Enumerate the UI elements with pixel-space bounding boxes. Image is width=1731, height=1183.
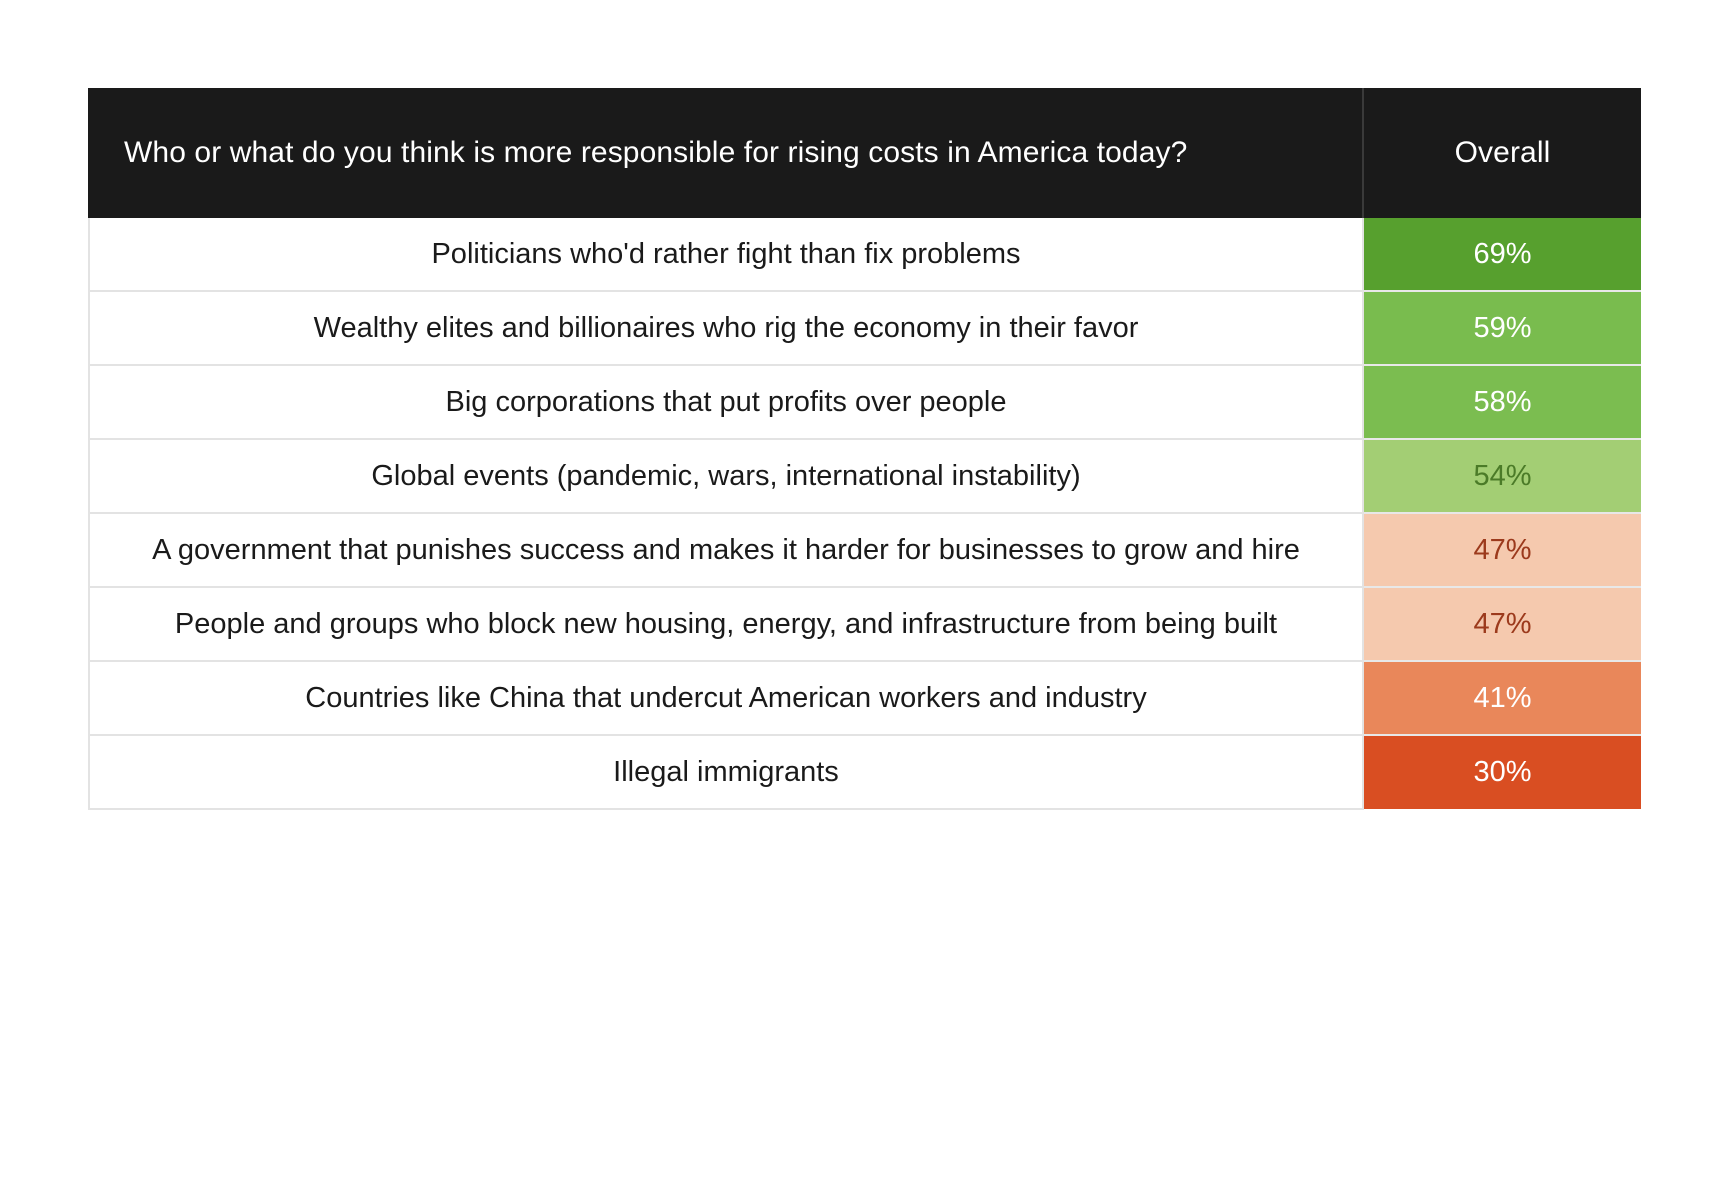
- table-header-row: Who or what do you think is more respons…: [89, 88, 1641, 218]
- overall-percentage-cell: 41%: [1363, 661, 1641, 735]
- poll-results-table-container: Who or what do you think is more respons…: [88, 88, 1480, 810]
- table-row: A government that punishes success and m…: [89, 513, 1641, 587]
- table-row: Wealthy elites and billionaires who rig …: [89, 291, 1641, 365]
- screenshot-canvas: Who or what do you think is more respons…: [0, 0, 1731, 1183]
- overall-percentage-cell: 69%: [1363, 218, 1641, 291]
- overall-percentage-cell: 30%: [1363, 735, 1641, 809]
- table-row: Global events (pandemic, wars, internati…: [89, 439, 1641, 513]
- question-column-header: Who or what do you think is more respons…: [89, 88, 1363, 218]
- response-option-label: Countries like China that undercut Ameri…: [89, 661, 1363, 735]
- table-row: Countries like China that undercut Ameri…: [89, 661, 1641, 735]
- response-option-label: A government that punishes success and m…: [89, 513, 1363, 587]
- overall-percentage-cell: 59%: [1363, 291, 1641, 365]
- response-option-label: Wealthy elites and billionaires who rig …: [89, 291, 1363, 365]
- table-row: Politicians who'd rather fight than fix …: [89, 218, 1641, 291]
- table-body: Politicians who'd rather fight than fix …: [89, 218, 1641, 809]
- overall-percentage-cell: 58%: [1363, 365, 1641, 439]
- response-option-label: Big corporations that put profits over p…: [89, 365, 1363, 439]
- table-header: Who or what do you think is more respons…: [89, 88, 1641, 218]
- overall-percentage-cell: 54%: [1363, 439, 1641, 513]
- response-option-label: Illegal immigrants: [89, 735, 1363, 809]
- table-row: People and groups who block new housing,…: [89, 587, 1641, 661]
- overall-column-header: Overall: [1363, 88, 1641, 218]
- response-option-label: People and groups who block new housing,…: [89, 587, 1363, 661]
- poll-results-table: Who or what do you think is more respons…: [88, 88, 1641, 810]
- overall-percentage-cell: 47%: [1363, 587, 1641, 661]
- response-option-label: Politicians who'd rather fight than fix …: [89, 218, 1363, 291]
- overall-percentage-cell: 47%: [1363, 513, 1641, 587]
- table-row: Illegal immigrants30%: [89, 735, 1641, 809]
- table-row: Big corporations that put profits over p…: [89, 365, 1641, 439]
- response-option-label: Global events (pandemic, wars, internati…: [89, 439, 1363, 513]
